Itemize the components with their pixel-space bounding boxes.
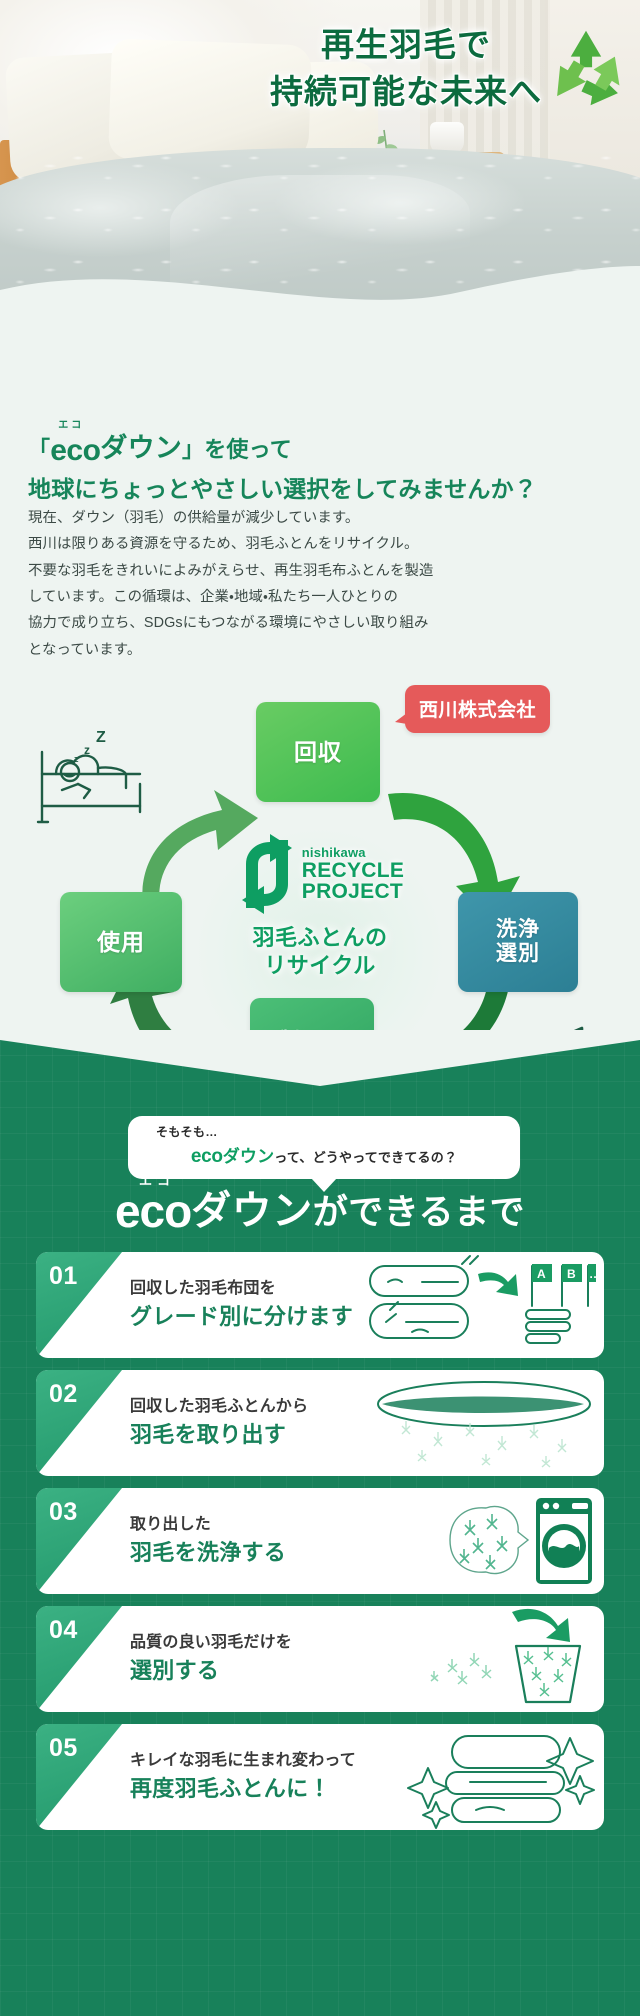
cycle-node-wash[interactable]: 洗浄 選別: [458, 892, 578, 992]
recycle-arrows-icon: [236, 834, 298, 914]
step-text: 回収した羽毛布団を グレード別に分けます: [130, 1279, 353, 1332]
step-text: 回収した羽毛ふとんから 羽毛を取り出す: [130, 1397, 308, 1450]
step-text-top: 回収した羽毛布団を: [130, 1279, 353, 1299]
step-text-top: 取り出した: [130, 1515, 286, 1535]
process-step[interactable]: 04 品質の良い羽毛だけを 選別する: [36, 1606, 604, 1712]
heading-line1-suffix: 」を使って: [182, 437, 292, 462]
heading-eco-latin: eco: [50, 434, 100, 467]
step-connector-arrow: [298, 1707, 342, 1712]
duvet-grading-icon: A B …: [366, 1252, 596, 1358]
heading-eco-word: エコeco: [50, 436, 100, 466]
logo-recycle: RECYCLE: [302, 860, 404, 881]
question-bubble: そもそも… ecoダウンって、どうやってできてるの？: [128, 1116, 520, 1179]
feather-sorting-bin-icon: [366, 1606, 596, 1712]
hero-title: 再生羽毛で 持続可能な未来へ: [270, 22, 542, 116]
svg-text:Z: Z: [96, 729, 106, 746]
logo-nishikawa: nishikawa: [302, 846, 404, 859]
process-steps-list: 01 回収した羽毛布団を グレード別に分けます: [36, 1252, 604, 1830]
intro-body-copy: 現在、ダウン（羽毛）の供給量が減少しています。 西川は限りある資源を守るため、羽…: [28, 505, 433, 663]
step-number: 03: [49, 1500, 78, 1525]
step-text-bottom: 再度羽毛ふとんに！: [130, 1775, 356, 1803]
feather-extraction-icon: [366, 1370, 596, 1476]
svg-text:z: z: [74, 754, 79, 764]
step-text-bottom: 羽毛を洗浄する: [130, 1539, 286, 1567]
bubble-question-tail: って、どうやってできてるの？: [274, 1150, 457, 1165]
infographic-page: 再生羽毛で 持続可能な未来へ 「エコecoダウン」を使って 地球にちょっとやさし…: [0, 0, 640, 2016]
step-text-top: キレイな羽毛に生まれ変わって: [130, 1751, 356, 1771]
step-text-bottom: 選別する: [130, 1657, 292, 1685]
step-connector-arrow: [298, 1471, 342, 1476]
svg-text:z: z: [84, 743, 90, 757]
grade-flag-a: A: [537, 1267, 546, 1281]
recycle-project-logo: nishikawa RECYCLE PROJECT: [200, 830, 440, 918]
heading-ruby: エコ: [58, 421, 84, 431]
step-number: 01: [49, 1264, 78, 1289]
process-title-ruby: エコ: [139, 1174, 175, 1187]
step-connector-arrow: [298, 1589, 342, 1594]
cycle-node-use[interactable]: 使用: [60, 892, 182, 992]
process-step[interactable]: 01 回収した羽毛布団を グレード別に分けます: [36, 1252, 604, 1358]
step-text-top: 回収した羽毛ふとんから: [130, 1397, 308, 1417]
bubble-eco-kana: ダウン: [223, 1147, 275, 1166]
heading-bracket-open: 「: [28, 437, 50, 462]
process-title-eco: エコeco: [115, 1188, 191, 1234]
grade-flag-more: …: [589, 1267, 596, 1281]
process-title-eco-latin: eco: [115, 1185, 191, 1237]
step-text: 品質の良い羽毛だけを 選別する: [130, 1633, 292, 1686]
bubble-prefix: そもそも…: [128, 1125, 520, 1139]
logo-project: PROJECT: [302, 881, 404, 902]
intro-heading: 「エコecoダウン」を使って 地球にちょっとやさしい選択をしてみませんか？: [28, 428, 537, 506]
sparkling-duvet-icon: [366, 1724, 596, 1830]
step-number: 05: [49, 1736, 78, 1761]
cycle-center: nishikawa RECYCLE PROJECT 羽毛ふとんの リサイクル: [200, 830, 440, 1060]
process-step[interactable]: 03 取り出した 羽毛を洗浄する: [36, 1488, 604, 1594]
process-title-rest: ができるまで: [313, 1193, 525, 1232]
step-text: 取り出した 羽毛を洗浄する: [130, 1515, 286, 1568]
heading-line-2: 地球にちょっとやさしい選択をしてみませんか？: [28, 472, 537, 507]
section-top-notch: [0, 1030, 640, 1086]
step-text-bottom: 羽毛を取り出す: [130, 1421, 308, 1449]
step-text: キレイな羽毛に生まれ変わって 再度羽毛ふとんに！: [130, 1751, 356, 1804]
grade-flag-b: B: [567, 1267, 576, 1281]
step-connector-arrow: [298, 1353, 342, 1358]
process-title: エコecoダウンができるまで: [0, 1188, 640, 1234]
heading-eco-kana: ダウン: [100, 433, 182, 463]
company-badge: 西川株式会社: [405, 685, 550, 733]
process-section: そもそも… ecoダウンって、どうやってできてるの？ エコecoダウンができるま…: [0, 1030, 640, 2016]
step-text-bottom: グレード別に分けます: [130, 1303, 353, 1331]
bubble-eco-latin: eco: [191, 1146, 223, 1167]
hero-section: 再生羽毛で 持続可能な未来へ: [0, 0, 640, 330]
recycle-icon: [548, 26, 624, 110]
process-step[interactable]: 02 回収した羽毛ふとんから 羽毛を取り出す: [36, 1370, 604, 1476]
cycle-node-collect[interactable]: 回収: [256, 702, 380, 802]
process-step[interactable]: 05 キレイな羽毛に生まれ変わって 再度羽毛ふとんに！: [36, 1724, 604, 1830]
process-title-kana: ダウン: [191, 1189, 313, 1233]
cycle-center-caption: 羽毛ふとんの リサイクル: [200, 924, 440, 980]
step-number: 02: [49, 1382, 78, 1407]
washing-machine-icon: [366, 1488, 596, 1594]
bubble-question: ecoダウンって、どうやってできてるの？: [128, 1142, 520, 1168]
step-number: 04: [49, 1618, 78, 1643]
step-text-top: 品質の良い羽毛だけを: [130, 1633, 292, 1653]
